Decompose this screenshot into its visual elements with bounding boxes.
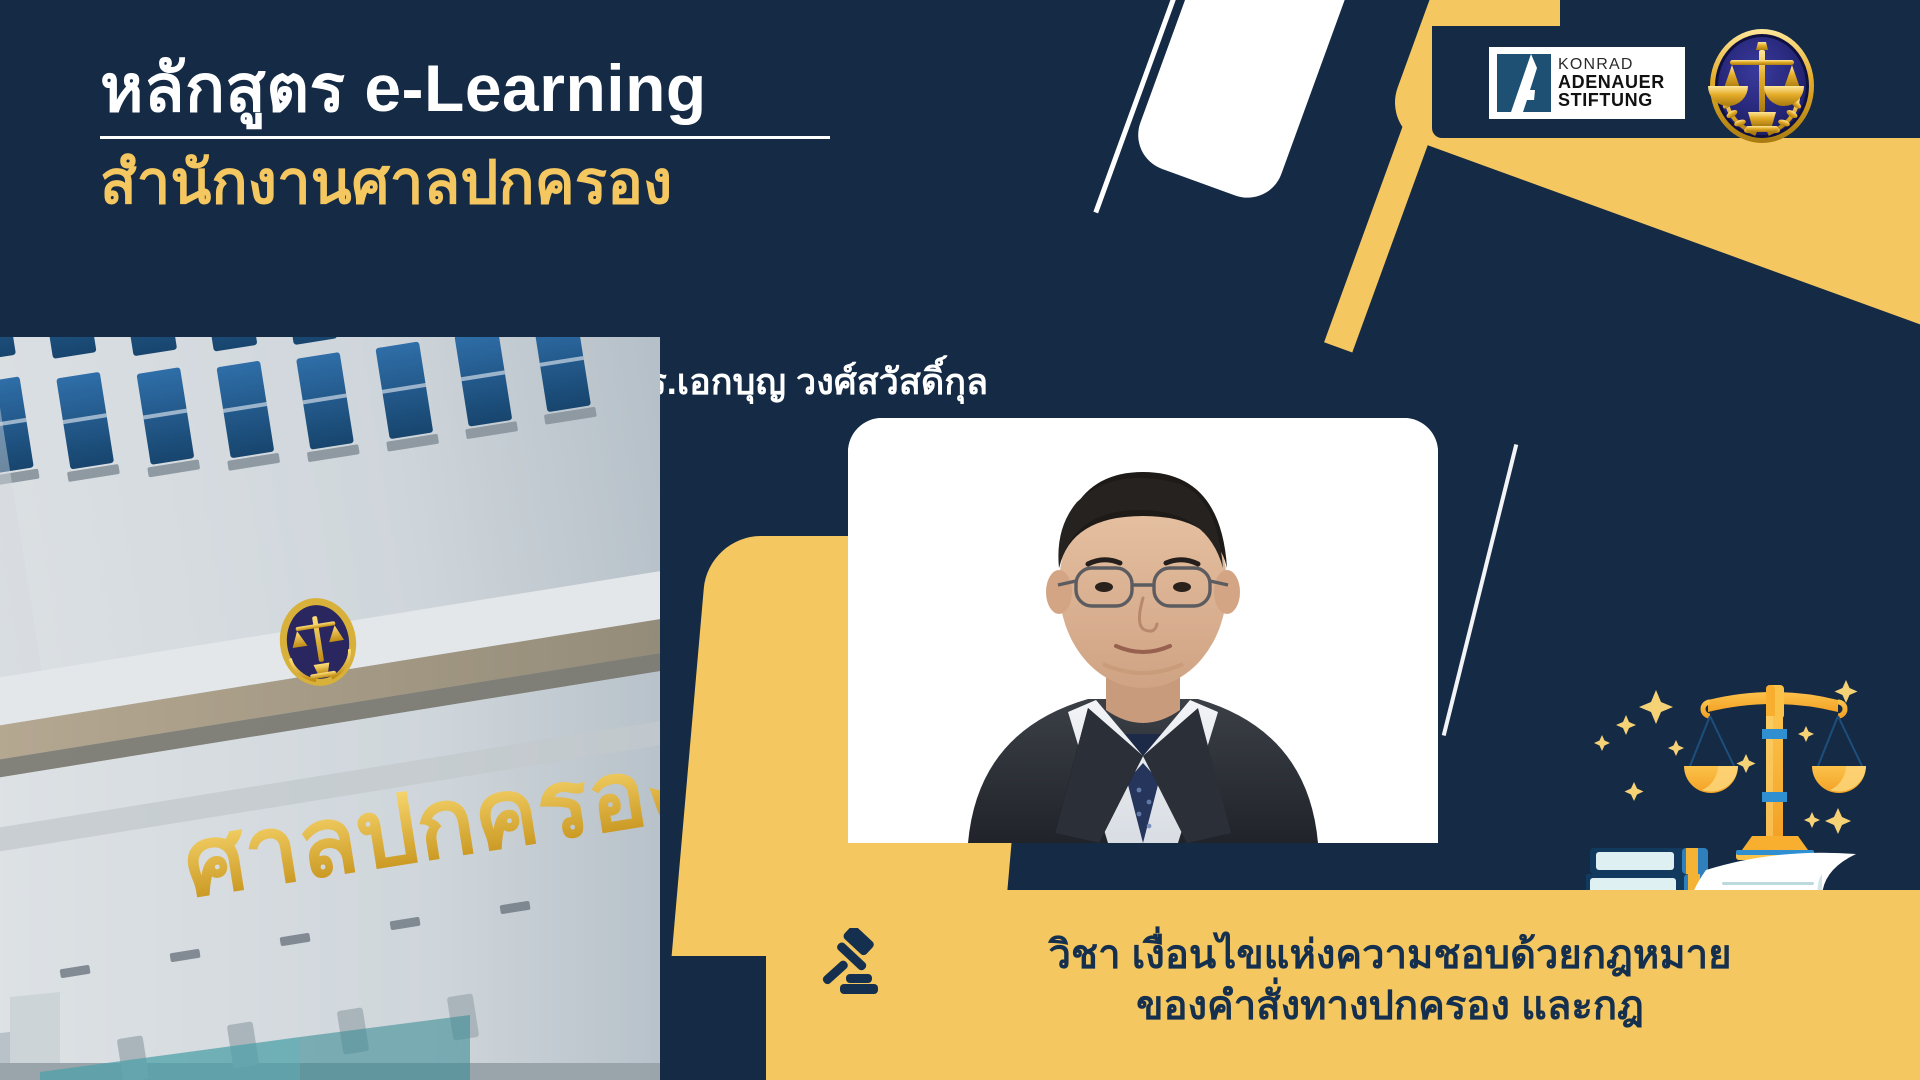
poster-canvas: หลักสูตร e-Learning สำนักงานศาลปกครอง KO… bbox=[0, 0, 1920, 1080]
title-divider bbox=[100, 136, 830, 139]
konrad-adenauer-stiftung-logo: KONRAD ADENAUER STIFTUNG bbox=[1489, 47, 1685, 119]
administrative-court-emblem bbox=[1706, 26, 1818, 146]
course-title-line-1: วิชา เงื่อนไขแห่งความชอบด้วยกฎหมาย bbox=[900, 930, 1880, 981]
course-title-banner: วิชา เงื่อนไขแห่งความชอบด้วยกฎหมาย ของคำ… bbox=[766, 890, 1920, 1080]
decorative-white-stripe-tall bbox=[1442, 444, 1518, 736]
scales-of-justice-with-books-illustration bbox=[1586, 530, 1920, 930]
course-title-line-2: ของคำสั่งทางปกครอง และกฎ bbox=[900, 981, 1880, 1032]
speaker-portrait-photo bbox=[848, 418, 1438, 843]
course-title-banner-inner: วิชา เงื่อนไขแห่งความชอบด้วยกฎหมาย ของคำ… bbox=[766, 890, 1920, 1080]
page-title: หลักสูตร e-Learning bbox=[100, 50, 920, 128]
building-image: ศาลปกครอง bbox=[0, 337, 660, 1080]
kas-mark-icon bbox=[1497, 54, 1551, 112]
kas-line-1: KONRAD bbox=[1558, 57, 1665, 73]
gavel-icon bbox=[816, 928, 888, 1000]
kas-line-2: ADENAUER bbox=[1558, 73, 1665, 91]
kas-line-3: STIFTUNG bbox=[1558, 91, 1665, 109]
portrait-image bbox=[848, 418, 1438, 843]
header-title-block: หลักสูตร e-Learning สำนักงานศาลปกครอง bbox=[100, 50, 920, 220]
course-title-text: วิชา เงื่อนไขแห่งความชอบด้วยกฎหมาย ของคำ… bbox=[900, 930, 1880, 1032]
page-subtitle: สำนักงานศาลปกครอง bbox=[100, 145, 920, 220]
kas-wordmark: KONRAD ADENAUER STIFTUNG bbox=[1558, 57, 1665, 109]
administrative-court-building-photo: ศาลปกครอง bbox=[0, 337, 660, 1080]
